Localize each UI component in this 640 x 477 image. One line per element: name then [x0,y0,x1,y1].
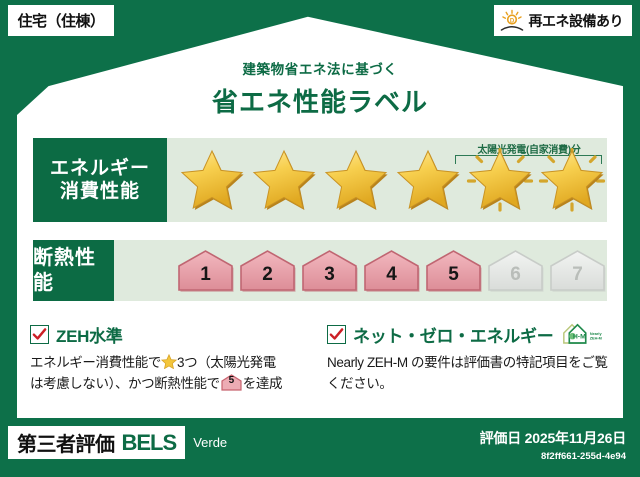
inline-house-badge: 5 [221,374,242,391]
insulation-grade-value: 1 [200,265,211,293]
zeh-checkbox[interactable] [30,325,49,344]
net-zero-description: Nearly ZEH-M の要件は評価書の特記項目をご覧ください。 [327,353,615,394]
insulation-grade-badge: 6 [486,248,545,293]
svg-text:ZEH-M: ZEH-M [590,336,602,340]
sun-solar-icon: D [499,9,525,33]
insulation-grade-value: 3 [324,265,335,293]
bels-jp-label: 第三者評価 [17,428,115,457]
insulation-grade-badge: 4 [362,248,421,293]
label-main-title: 省エネ性能ラベル [0,82,640,119]
insulation-performance-body: 1 2 [114,240,607,301]
insulation-grade-badge: 7 [548,248,607,293]
insulation-performance-label: 断熱性能 [33,240,114,301]
evaluation-id: 8f2ff661-255d-4e94 [480,451,626,462]
energy-performance-row: エネルギー 消費性能 太陽光発電(自家消費)分 [33,138,607,222]
zeh-description: エネルギー消費性能で3つ（太陽光発電は考慮しない）、かつ断熱性能で5を達成 [30,353,318,394]
criteria-zeh-standard: ZEH水準 エネルギー消費性能で3つ（太陽光発電は考慮しない）、かつ断熱性能で5… [30,322,318,394]
energy-star-icon [393,147,463,213]
inline-house-value: 5 [221,374,242,391]
insulation-grade-badge: 2 [238,248,297,293]
criteria-zeh-header: ZEH水準 [30,322,318,346]
energy-label-line2: 消費性能 [60,180,140,203]
criteria-net-zero-energy: ネット・ゼロ・エネルギー H-M Nearly ZEH-M Nearly ZEH… [327,322,615,394]
svg-text:H-M: H-M [573,333,586,340]
vendor-name: Verde [193,435,227,450]
net-zero-checkbox[interactable] [327,325,346,344]
zeh-m-logo-icon: H-M Nearly ZEH-M [562,322,604,346]
insulation-grade-badge: 3 [300,248,359,293]
insulation-grade-value: 7 [572,265,583,293]
insulation-grade-badge: 5 [424,248,483,293]
insulation-grade-value: 4 [386,265,397,293]
energy-star-icon [177,147,247,213]
zeh-desc-part3: を達成 [243,376,282,391]
insulation-grade-value: 2 [262,265,273,293]
bels-badge: 第三者評価 BELS [8,426,185,459]
insulation-grade-badge: 1 [176,248,235,293]
zeh-desc-starcount: 3つ（太陽光発電 [177,355,276,370]
zeh-title: ZEH水準 [56,322,123,347]
category-chip-label: 住宅（住棟） [17,10,104,31]
footer-certification: 第三者評価 BELS Verde [8,426,227,459]
criteria-nze-header: ネット・ゼロ・エネルギー H-M Nearly ZEH-M [327,322,615,346]
svg-text:D: D [509,18,514,24]
energy-star-icon [249,147,319,213]
svg-text:Nearly: Nearly [590,332,603,336]
solar-star-icon [537,147,607,213]
label-title-block: 建築物省エネ法に基づく 省エネ性能ラベル [0,58,640,119]
energy-performance-body: 太陽光発電(自家消費)分 [167,138,607,222]
energy-performance-label: エネルギー 消費性能 [33,138,167,222]
energy-label-line1: エネルギー [50,157,150,180]
energy-star-icon [321,147,391,213]
footer-evaluation-info: 評価日 2025年11月26日 8f2ff661-255d-4e94 [480,428,626,462]
insulation-label-text: 断熱性能 [33,246,114,295]
zeh-desc-part1: エネルギー消費性能で [30,355,161,370]
label-subtitle: 建築物省エネ法に基づく [0,58,640,78]
net-zero-title: ネット・ゼロ・エネルギー [353,322,553,347]
energy-performance-label: 住宅（住棟） D 再エネ設備あり 建築物省エネ法に基づく 省エネ性能ラベル [0,0,640,477]
insulation-performance-row: 断熱性能 1 [33,240,607,301]
bels-en-label: BELS [122,430,177,456]
renewable-equipment-badge: D 再エネ設備あり [494,5,633,36]
solar-star-icon [465,147,535,213]
renewable-badge-label: 再エネ設備あり [529,11,624,31]
insulation-grade-value: 5 [448,265,459,293]
insulation-grade-scale: 1 2 [114,248,607,293]
zeh-desc-part2: は考慮しない）、かつ断熱性能で [30,376,220,391]
insulation-grade-value: 6 [510,265,521,293]
inline-star-icon [161,354,177,369]
energy-star-rating [167,147,607,213]
check-icon [329,327,344,342]
check-icon [32,327,47,342]
evaluation-date: 評価日 2025年11月26日 [480,428,626,448]
category-chip: 住宅（住棟） [8,5,114,36]
